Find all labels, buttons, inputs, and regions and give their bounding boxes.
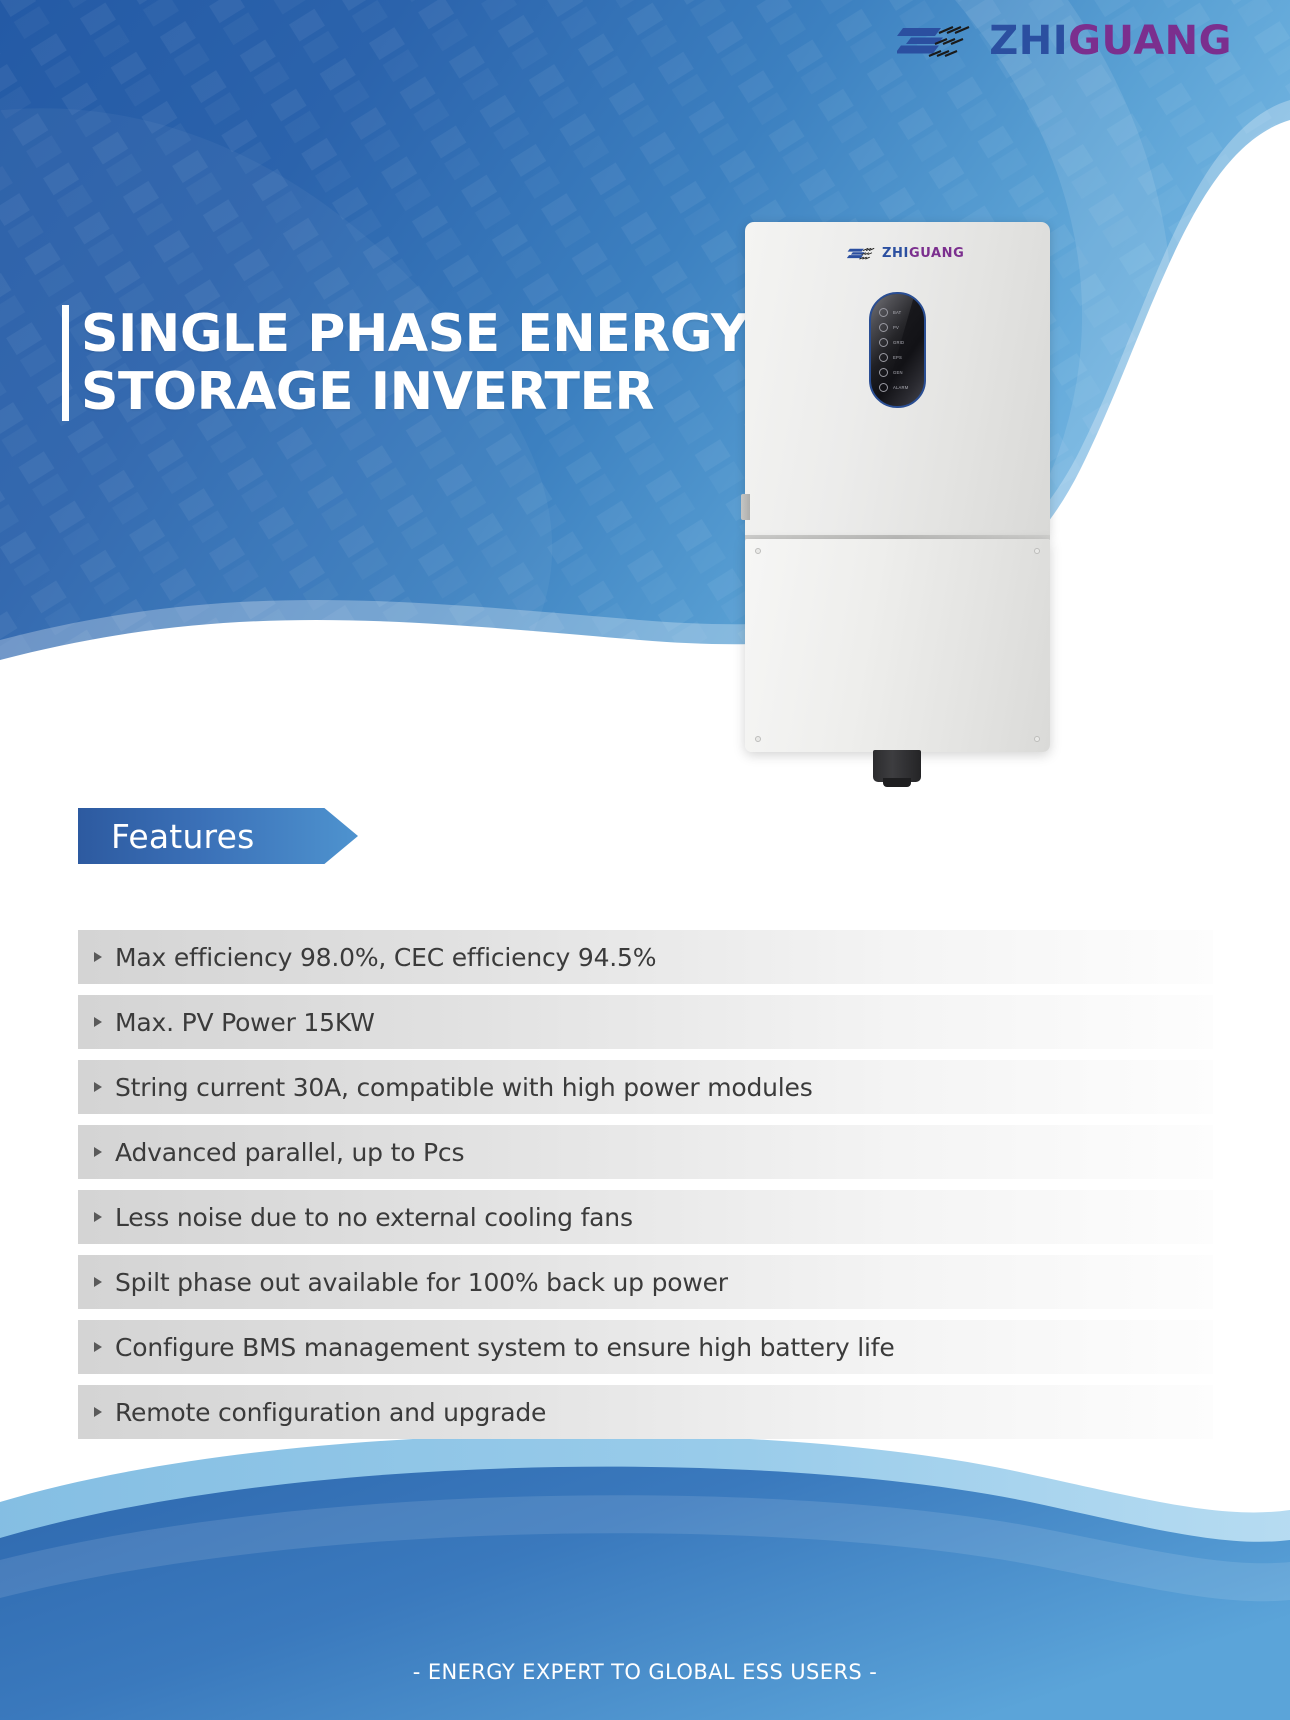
led-indicator-row: PV [879,323,908,332]
product-brand-logo: ZHIGUANG [847,245,964,262]
led-label: PV [893,325,899,330]
product-cable-gland [873,750,921,782]
feature-item: Max. PV Power 15KW [78,995,1213,1049]
feature-label: Spilt phase out available for 100% back … [115,1268,728,1297]
triangle-bullet-icon [94,1017,102,1027]
led-indicator-row: GRID [879,338,908,347]
triangle-bullet-icon [94,1342,102,1352]
led-indicator-row: GEN [879,368,908,377]
feature-label: Less noise due to no external cooling fa… [115,1203,633,1232]
led-indicator-row: ALARM [879,383,908,392]
enclosure-screw [1034,736,1040,742]
zhiguang-stripes-logo-icon [897,18,975,64]
brand-wordmark: ZHIGUANG [989,21,1232,61]
product-wordmark-zhi: ZHI [882,246,909,261]
feature-item: String current 30A, compatible with high… [78,1060,1213,1114]
product-lower-enclosure [745,539,1050,752]
page-title: SINGLE PHASE ENERGY STORAGE INVERTER [62,305,748,421]
enclosure-screw [755,736,761,742]
led-indicator-row: EPS [879,353,908,362]
triangle-bullet-icon [94,1407,102,1417]
title-accent-bar [62,305,69,421]
led-label: GRID [893,340,904,345]
led-label: EPS [893,355,902,360]
feature-item: Configure BMS management system to ensur… [78,1320,1213,1374]
product-side-latch [741,494,750,520]
product-wordmark-guang: GUANG [909,246,964,261]
feature-item: Max efficiency 98.0%, CEC efficiency 94.… [78,930,1213,984]
product-led-display-panel: BAT PV GRID EPS GEN [869,292,926,408]
zhiguang-stripes-logo-icon [847,245,877,262]
brand-wordmark-guang: GUANG [1068,18,1232,64]
battery-icon [879,308,888,317]
led-label: BAT [893,310,901,315]
title-lines: SINGLE PHASE ENERGY STORAGE INVERTER [81,305,748,421]
feature-label: Advanced parallel, up to Pcs [115,1138,464,1167]
feature-label: Max. PV Power 15KW [115,1008,375,1037]
features-heading-label: Features [78,817,255,856]
led-indicator-list: BAT PV GRID EPS GEN [879,308,908,392]
features-section-heading: Features [78,808,358,864]
feature-label: String current 30A, compatible with high… [115,1073,813,1102]
pv-panel-icon [879,323,888,332]
triangle-bullet-icon [94,952,102,962]
eps-icon [879,353,888,362]
grid-icon [879,338,888,347]
brand-wordmark-zhi: ZHI [989,18,1068,64]
led-label: ALARM [893,385,908,390]
product-image: ZHIGUANG BAT PV GRID EPS [745,222,1050,772]
triangle-bullet-icon [94,1212,102,1222]
led-label: GEN [893,370,903,375]
datasheet-page: ZHIGUANG SINGLE PHASE ENERGY STORAGE INV… [0,0,1290,1720]
feature-label: Remote configuration and upgrade [115,1398,546,1427]
feature-item: Less noise due to no external cooling fa… [78,1190,1213,1244]
footer-tagline: - ENERGY EXPERT TO GLOBAL ESS USERS - [0,1660,1290,1684]
product-brand-wordmark: ZHIGUANG [882,246,964,261]
enclosure-screw [755,548,761,554]
brand-logo-header: ZHIGUANG [897,18,1232,64]
title-line-1: SINGLE PHASE ENERGY [81,305,748,363]
triangle-bullet-icon [94,1147,102,1157]
feature-item: Advanced parallel, up to Pcs [78,1125,1213,1179]
feature-item: Remote configuration and upgrade [78,1385,1213,1439]
page-footer: - ENERGY EXPERT TO GLOBAL ESS USERS - [0,1410,1290,1720]
feature-label: Max efficiency 98.0%, CEC efficiency 94.… [115,943,656,972]
feature-item: Spilt phase out available for 100% back … [78,1255,1213,1309]
triangle-bullet-icon [94,1082,102,1092]
led-indicator-row: BAT [879,308,908,317]
title-line-2: STORAGE INVERTER [81,363,748,421]
features-list: Max efficiency 98.0%, CEC efficiency 94.… [78,930,1213,1450]
triangle-bullet-icon [94,1277,102,1287]
alarm-icon [879,383,888,392]
feature-label: Configure BMS management system to ensur… [115,1333,895,1362]
generator-icon [879,368,888,377]
enclosure-screw [1034,548,1040,554]
